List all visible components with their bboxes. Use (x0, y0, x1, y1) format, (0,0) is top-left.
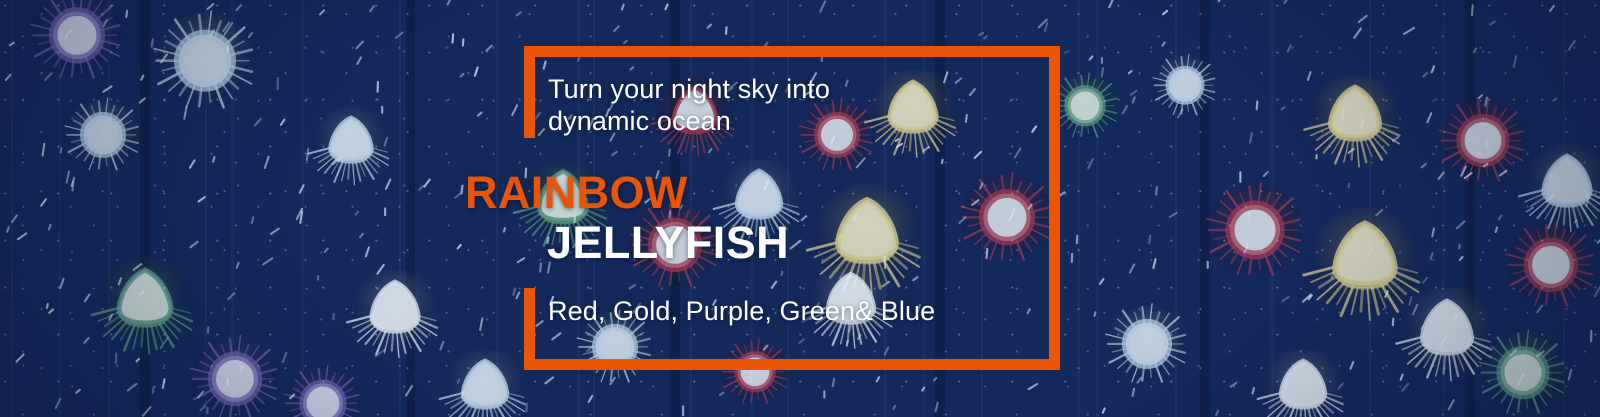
headline-lead-text: Turn your night sky into dynamic ocean (548, 74, 878, 138)
title-line-jellyfish: JELLYFISH (547, 216, 789, 269)
banner-copy: Turn your night sky into dynamic ocean R… (0, 0, 1600, 417)
color-variants-subline: Red, Gold, Purple, Green& Blue (548, 296, 935, 328)
promo-banner: Turn your night sky into dynamic ocean R… (0, 0, 1600, 417)
title-line-rainbow: RAINBOW (465, 166, 688, 219)
